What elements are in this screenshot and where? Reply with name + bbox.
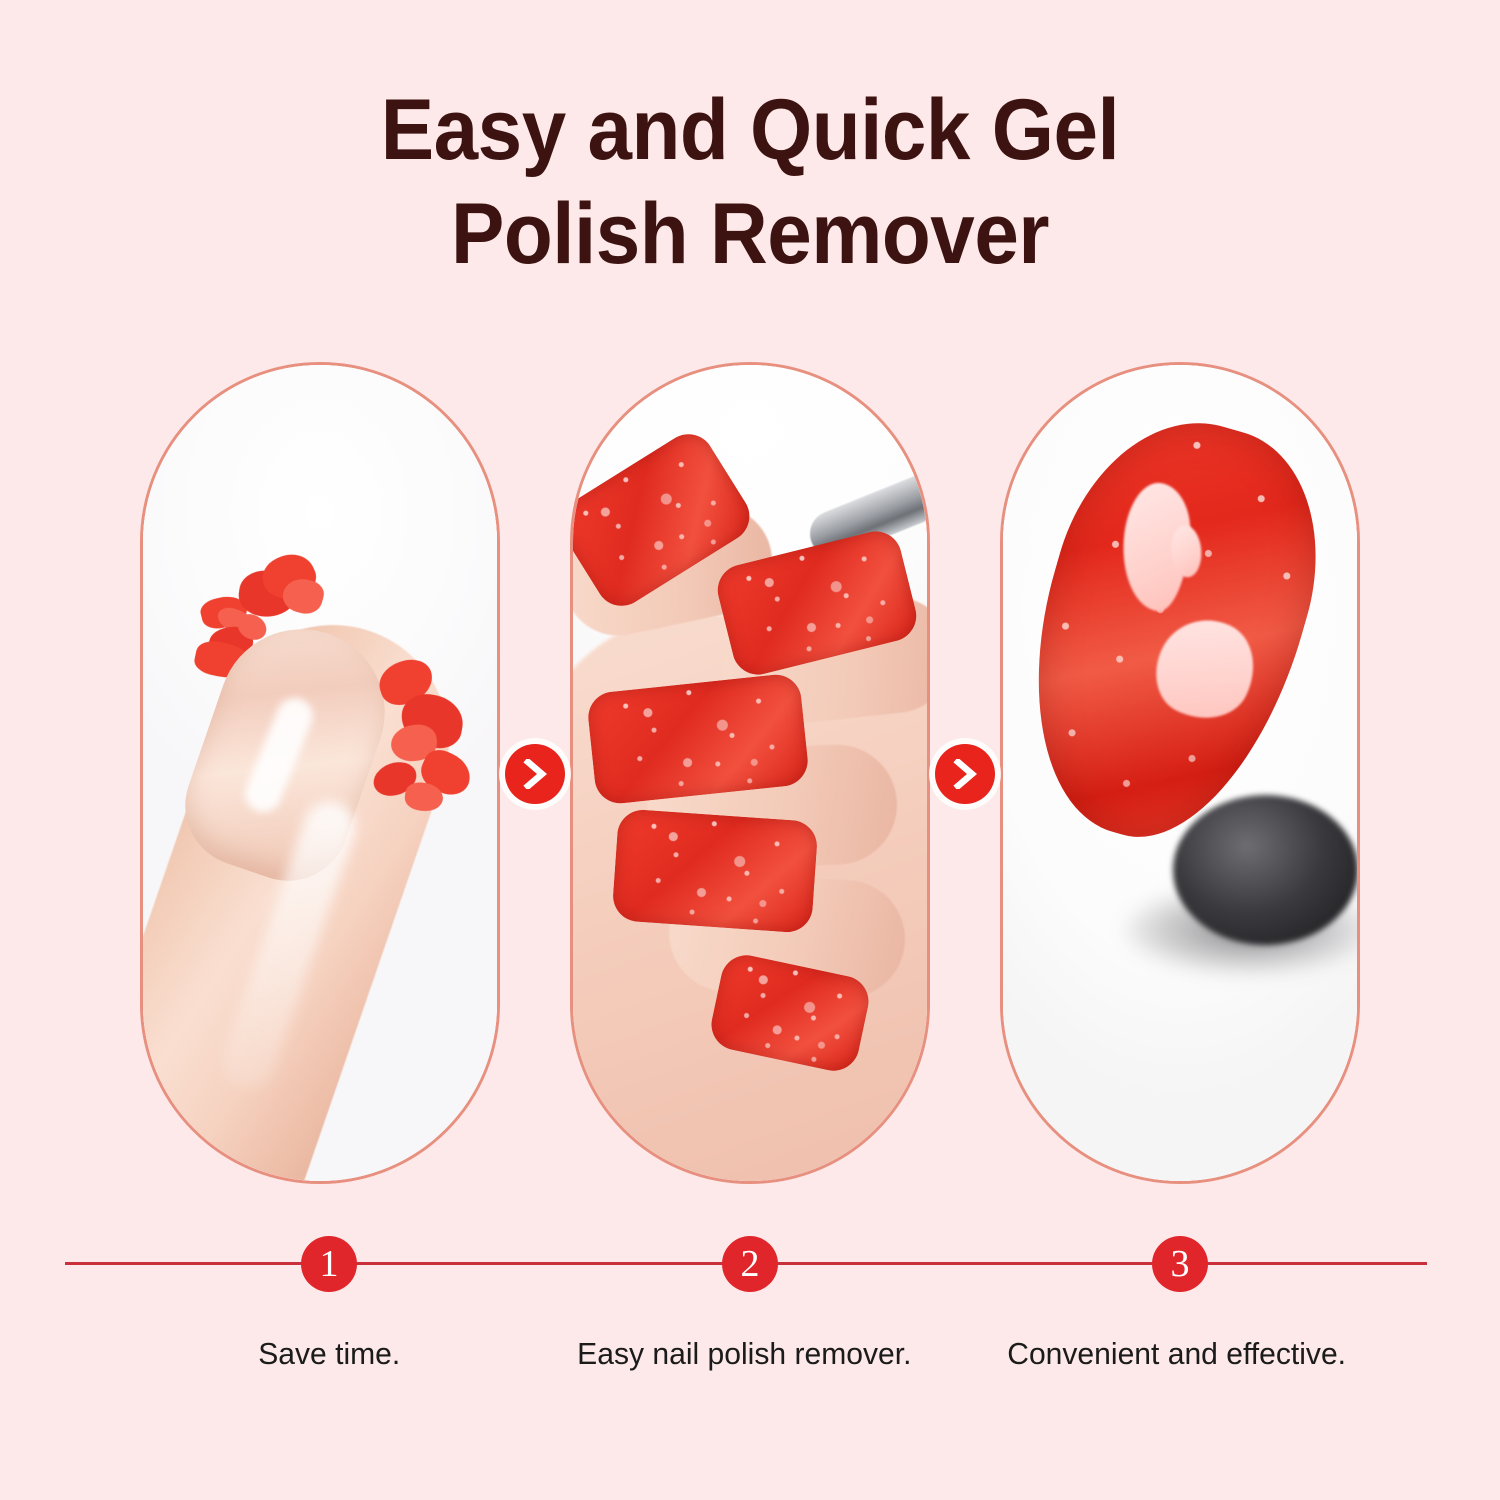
step-image-panel-2 bbox=[570, 362, 930, 1184]
step-caption-3: Convenient and effective. bbox=[1007, 1334, 1346, 1374]
nail-flakes-photo bbox=[143, 365, 497, 1181]
panel-row bbox=[0, 362, 1500, 1186]
title-line-1: Easy and Quick Gel bbox=[53, 78, 1448, 182]
step-image-panel-3 bbox=[1000, 362, 1360, 1184]
step-caption-1: Save time. bbox=[258, 1334, 400, 1374]
step-badge-1: 1 bbox=[301, 1236, 357, 1292]
step-arrow-2 bbox=[935, 744, 995, 804]
gel-nail bbox=[611, 808, 818, 934]
hand-with-gel-nails-photo bbox=[573, 365, 927, 1181]
gel-texture bbox=[611, 808, 818, 934]
step-image-panel-1 bbox=[140, 362, 500, 1184]
step-badge-3: 3 bbox=[1152, 1236, 1208, 1292]
chevron-right-icon bbox=[952, 759, 978, 789]
chevron-right-icon bbox=[522, 759, 548, 789]
step-caption-2: Easy nail polish remover. bbox=[577, 1334, 911, 1374]
gel-texture bbox=[586, 672, 811, 806]
step-badge-2: 2 bbox=[722, 1236, 778, 1292]
gel-nail bbox=[586, 672, 811, 806]
peeled-gel-on-cap-photo bbox=[1003, 365, 1357, 1181]
page-title: Easy and Quick Gel Polish Remover bbox=[0, 78, 1500, 286]
title-line-2: Polish Remover bbox=[53, 182, 1448, 286]
step-arrow-1 bbox=[505, 744, 565, 804]
